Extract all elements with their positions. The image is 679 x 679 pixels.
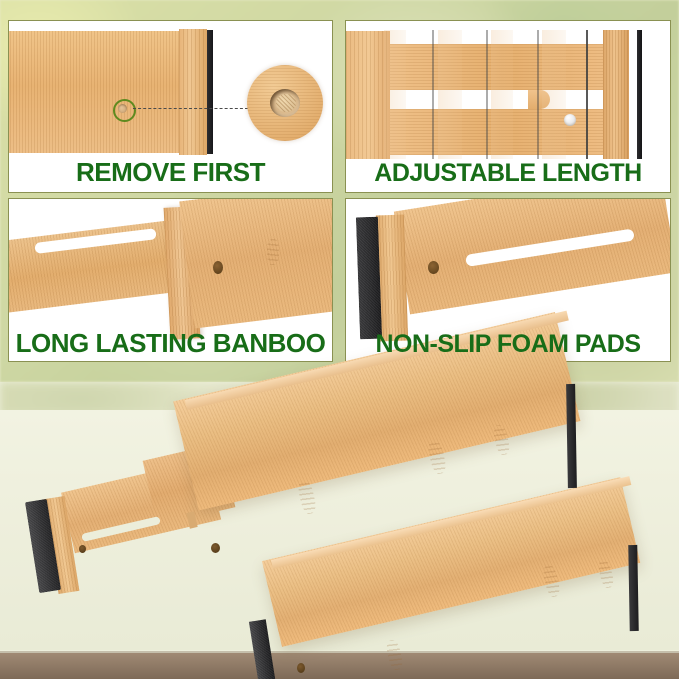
product-feature-image: REMOVE FIRST ADJUSTABLE LENGTH LONG LAST… (0, 0, 679, 679)
bamboo-board-face (8, 31, 179, 153)
panel-caption-non-slip-foam-pads: NON-SLIP FOAM PADS (346, 330, 670, 359)
foam-pad-icon (356, 217, 382, 340)
ghost-edge-line-icon (486, 30, 488, 159)
bamboo-left-end-cap (345, 31, 390, 159)
screw-hole-icon (428, 261, 439, 274)
foam-pad-icon (566, 384, 577, 488)
screw-hole-icon (211, 543, 220, 553)
ghost-edge-line-icon (537, 30, 539, 159)
feature-panel-adjustable-length: ADJUSTABLE LENGTH (345, 20, 671, 193)
bamboo-end-cap (179, 29, 207, 155)
feature-panel-remove-first: REMOVE FIRST (8, 20, 333, 193)
ghost-edge-line-icon (586, 30, 588, 159)
bamboo-board-face (179, 198, 333, 329)
ghost-edge-line-icon (432, 30, 434, 159)
wooden-floor-strip (0, 653, 679, 679)
feature-panel-long-lasting-banboo: LONG LASTING BANBOO (8, 198, 333, 362)
foam-pad-icon (207, 30, 213, 154)
bamboo-rail-upper (390, 44, 610, 90)
magnifier-inset-icon (247, 65, 323, 141)
screw-hole-closeup (270, 89, 300, 117)
divider-front-far-cap (628, 545, 638, 631)
screw-hole-icon (297, 663, 305, 673)
screw-hole-icon (213, 261, 223, 274)
slot-end-icon (528, 90, 550, 109)
feature-panel-non-slip-foam-pads: NON-SLIP FOAM PADS (345, 198, 671, 362)
highlight-ring-icon (113, 99, 136, 122)
peg-icon (564, 114, 576, 126)
panel-caption-adjustable-length: ADJUSTABLE LENGTH (346, 159, 670, 188)
bamboo-rail-lower (390, 109, 610, 155)
panel-caption-long-lasting-banboo: LONG LASTING BANBOO (9, 328, 332, 359)
foam-pad-icon (637, 30, 642, 159)
dashed-callout-line-icon (133, 108, 248, 109)
screw-hole-icon (79, 545, 86, 553)
bamboo-right-end-cap (603, 30, 629, 159)
panel-caption-remove-first: REMOVE FIRST (9, 157, 332, 188)
